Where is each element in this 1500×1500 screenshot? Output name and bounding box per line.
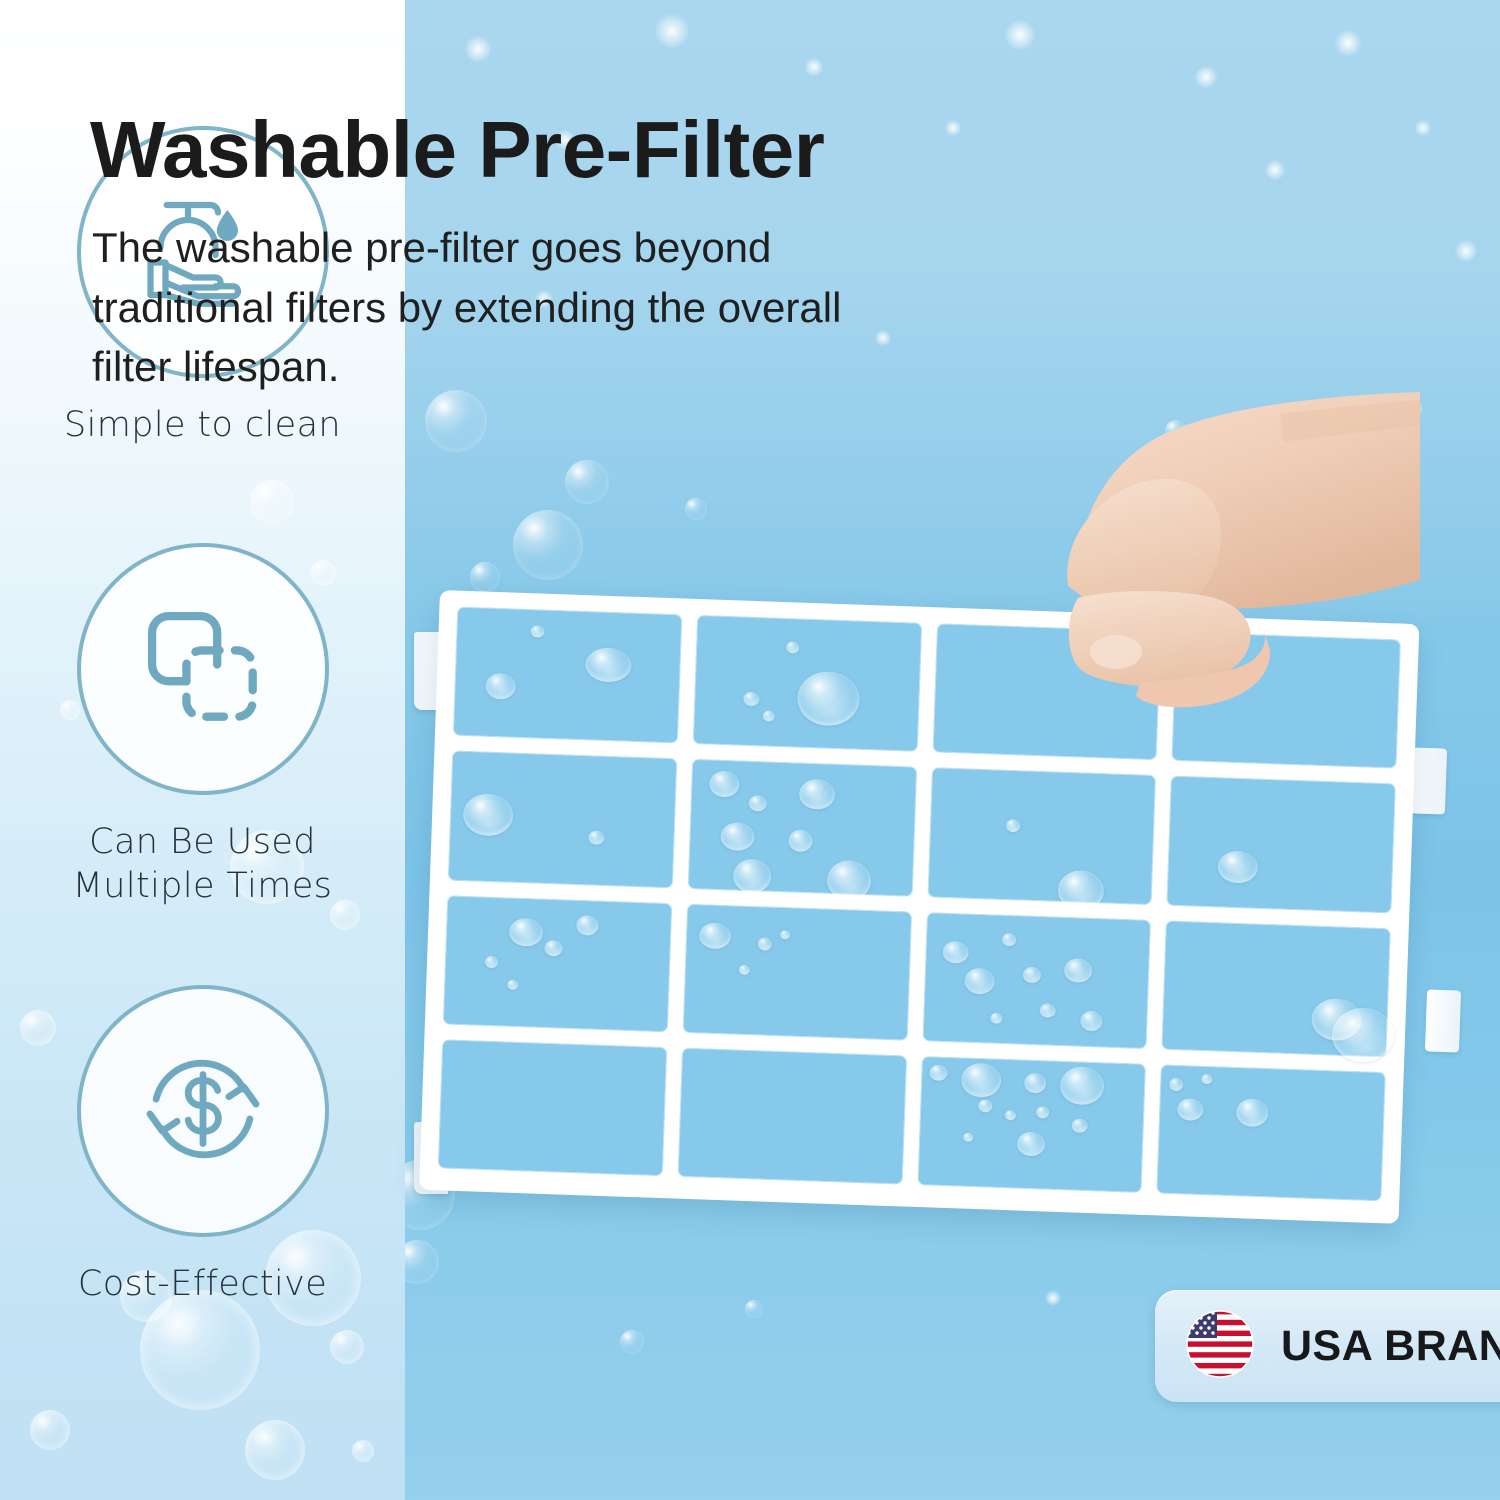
water-droplet	[738, 965, 749, 975]
water-droplet	[720, 822, 755, 851]
water-droplet	[507, 980, 518, 990]
filter-cell	[1167, 776, 1396, 913]
water-droplet	[978, 1099, 992, 1112]
water-droplet	[589, 831, 605, 846]
decorative-bubble	[30, 1410, 70, 1450]
filter-cell	[932, 623, 1161, 760]
water-droplet	[544, 940, 563, 957]
water-droplet	[486, 672, 517, 699]
water-droplet	[943, 941, 970, 964]
water-droplet	[1310, 998, 1361, 1042]
water-bubble	[565, 460, 609, 504]
filter-cell	[1162, 920, 1391, 1057]
filter-cell	[1157, 1064, 1386, 1201]
sparkle-speck	[1415, 120, 1431, 136]
filter-cell	[687, 759, 916, 896]
water-droplet	[1177, 1098, 1204, 1121]
water-droplet	[1024, 1072, 1047, 1093]
filter-cell	[1172, 632, 1401, 769]
water-droplet	[1217, 850, 1258, 883]
feature-label: Simple to clean	[0, 404, 405, 448]
usa-brand-badge: USA BRAND	[1155, 1290, 1500, 1402]
feature-label: Cost-Effective	[0, 1263, 405, 1307]
water-droplet	[509, 918, 544, 947]
decorative-bubble	[250, 480, 294, 524]
water-droplet	[749, 795, 768, 812]
water-droplet	[1036, 1106, 1049, 1118]
water-droplet	[463, 793, 514, 837]
page-title: Washable Pre-Filter	[90, 110, 1070, 190]
filter-cell	[677, 1047, 906, 1184]
filter-frame-body	[419, 590, 1419, 1224]
water-droplet	[990, 1012, 1002, 1023]
water-droplet	[763, 710, 775, 721]
water-bubble	[685, 498, 707, 520]
water-droplet	[1006, 819, 1020, 832]
filter-cell	[443, 895, 672, 1032]
water-droplet	[732, 859, 771, 894]
water-bubble	[620, 1330, 644, 1354]
dollar-refresh-icon	[129, 1035, 277, 1188]
water-droplet	[1023, 967, 1042, 984]
page-subtitle: The washable pre-filter goes beyond trad…	[92, 218, 892, 397]
sparkle-speck	[1045, 1290, 1061, 1306]
feature-icon-circle	[77, 985, 329, 1237]
sparkle-speck	[1195, 66, 1217, 88]
water-droplet	[576, 915, 599, 936]
sparkle-speck	[655, 14, 689, 48]
feature-icon-circle	[77, 543, 329, 795]
sparkle-speck	[465, 36, 491, 62]
decorative-bubble	[330, 1330, 364, 1364]
sparkle-speck	[805, 58, 823, 76]
water-droplet	[780, 930, 790, 939]
water-droplet	[1072, 1118, 1088, 1133]
filter-cell	[448, 751, 677, 888]
filter-frame	[419, 590, 1419, 1224]
water-droplet	[964, 1132, 974, 1141]
usa-flag-circle-icon	[1185, 1309, 1255, 1384]
water-droplet	[1064, 958, 1093, 983]
water-bubble	[470, 562, 500, 592]
usa-brand-label: USA BRAND	[1281, 1322, 1500, 1371]
sparkle-speck	[1455, 240, 1477, 262]
water-droplet	[743, 692, 759, 707]
water-droplet	[1169, 1077, 1183, 1090]
water-droplet	[1005, 1110, 1016, 1120]
filter-cell	[693, 615, 922, 752]
decorative-bubble	[352, 1440, 374, 1462]
water-droplet	[1235, 1098, 1268, 1127]
water-droplet	[788, 830, 813, 853]
filter-cell	[922, 912, 1151, 1049]
water-droplet	[961, 1062, 1002, 1097]
water-droplet	[585, 647, 632, 683]
water-droplet	[786, 641, 799, 653]
sparkle-speck	[1335, 30, 1361, 56]
decorative-bubble	[140, 1290, 260, 1410]
product-image-washable-pre-filter	[440, 590, 1460, 1250]
water-droplet	[1201, 1073, 1212, 1083]
water-bubble	[405, 1240, 439, 1284]
water-bubble	[1165, 420, 1187, 442]
filter-mesh-grid	[438, 607, 1401, 1202]
sparkle-speck	[1405, 400, 1423, 418]
water-droplet	[798, 778, 835, 809]
sparkle-speck	[1265, 160, 1285, 180]
water-bubble	[513, 510, 583, 580]
feature-label: Can Be Used Multiple Times	[0, 821, 405, 909]
filter-cell	[453, 607, 682, 744]
feature-can-be-used-multiple-times: Can Be Used Multiple Times	[0, 543, 405, 909]
water-droplet	[964, 967, 995, 994]
decorative-bubble	[245, 1420, 305, 1480]
water-droplet	[699, 922, 732, 949]
water-droplet	[1080, 1010, 1103, 1031]
feature-cost-effective: Cost-Effective	[0, 985, 405, 1307]
water-droplet	[1059, 1066, 1104, 1106]
filter-right-clip-tab	[1425, 989, 1461, 1052]
sparkle-speck	[1005, 20, 1035, 50]
filter-cell	[917, 1056, 1146, 1193]
water-droplet	[1017, 1132, 1046, 1157]
water-droplet	[709, 770, 740, 797]
water-bubble	[425, 390, 487, 452]
water-droplet	[797, 670, 861, 726]
filter-cell	[682, 903, 911, 1040]
water-droplet	[930, 1064, 949, 1081]
water-droplet	[1040, 1004, 1056, 1019]
product-infographic: Simple to clean Can Be Used Multiple Tim…	[0, 0, 1500, 1500]
water-droplet	[1057, 870, 1104, 904]
water-bubble	[745, 1300, 763, 1318]
water-droplet	[1002, 932, 1016, 945]
water-droplet	[531, 625, 545, 637]
filter-cell	[927, 768, 1156, 905]
water-droplet	[827, 860, 872, 897]
filter-right-clip-tab	[1411, 747, 1447, 814]
water-droplet	[757, 937, 771, 950]
duplicate-squares-icon	[132, 596, 274, 743]
water-bubble	[1205, 440, 1223, 458]
water-droplet	[485, 956, 498, 968]
filter-cell	[438, 1039, 667, 1176]
